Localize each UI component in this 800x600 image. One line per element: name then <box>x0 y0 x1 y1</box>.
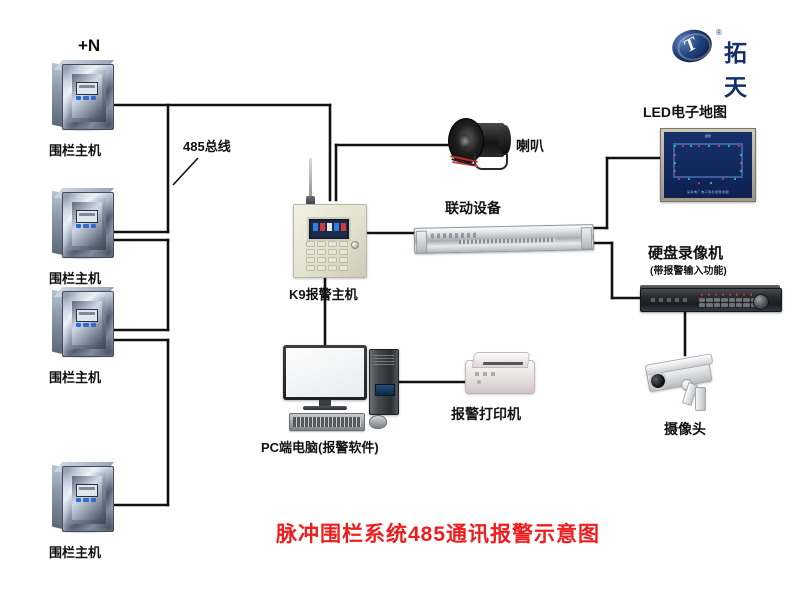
diagram-canvas: T ® 拓天 +N 485总线 围栏主机 围栏主机 <box>0 0 800 600</box>
diagram-title: 脉冲围栏系统485通讯报警示意图 <box>276 518 600 548</box>
speaker-icon <box>448 116 524 174</box>
fence-host-1-label: 围栏主机 <box>49 140 101 159</box>
k9-alarm-host-icon <box>293 200 365 276</box>
bus-leader-line <box>168 150 218 190</box>
k9-alarm-host-label: K9报警主机 <box>289 284 358 303</box>
camera-icon <box>645 355 725 417</box>
dvr-sublabel: (带报警输入功能) <box>650 262 727 277</box>
fence-host-icon <box>52 60 114 130</box>
dvr-icon <box>640 288 780 312</box>
fence-host-4-label: 围栏主机 <box>49 542 101 561</box>
led-map-label: LED电子地图 <box>643 102 727 122</box>
speaker-label: 喇叭 <box>516 136 544 156</box>
dvr-label: 硬盘录像机 <box>648 242 723 263</box>
fence-host-3-label: 围栏主机 <box>49 367 101 386</box>
fence-host-icon <box>52 287 114 357</box>
camera-label: 摄像头 <box>664 419 706 439</box>
alarm-printer-icon <box>465 352 533 396</box>
pc-label: PC端电脑(报警软件) <box>261 437 379 456</box>
brand-mark-letter: T <box>682 32 700 58</box>
registered-trademark-icon: ® <box>716 28 722 37</box>
brand-name: 拓天 <box>724 34 748 102</box>
linkage-device-icon <box>414 226 592 252</box>
led-electronic-map-icon: 报警 某某电厂电子围栏报 <box>660 128 756 202</box>
fence-host-icon <box>52 188 114 258</box>
linkage-device-label: 联动设备 <box>445 198 501 218</box>
led-map-screen-header: 报警 <box>664 134 752 138</box>
led-map-screen-caption: 某某电厂电子围栏报警地图 <box>664 190 752 194</box>
fence-host-icon <box>52 462 114 532</box>
plus-n-label: +N <box>78 36 100 56</box>
pc-computer-icon <box>283 345 401 431</box>
printer-label: 报警打印机 <box>451 404 521 424</box>
fence-host-2-label: 围栏主机 <box>49 268 101 287</box>
